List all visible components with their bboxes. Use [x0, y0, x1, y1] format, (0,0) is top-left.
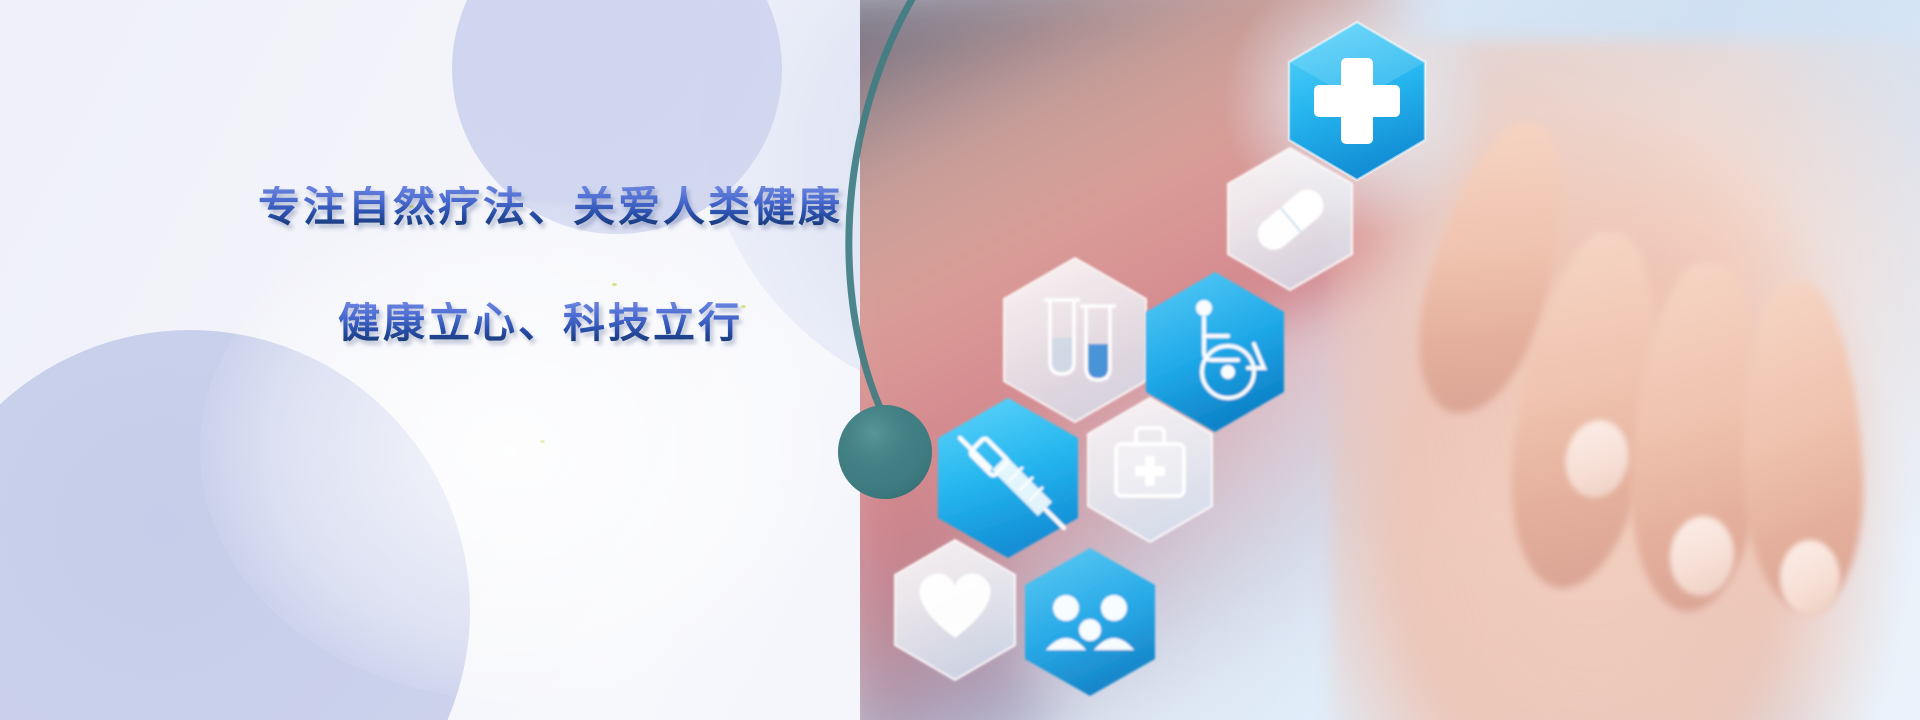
hexagon-people[interactable] — [1025, 548, 1155, 696]
headline-block: 专注自然疗法、关爱人类健康 健康立心、科技立行 — [258, 186, 898, 344]
headline-line-2: 健康立心、科技立行 — [338, 302, 898, 344]
hexagon-heart[interactable] — [895, 540, 1015, 680]
lavender-circle-bottom-left — [0, 330, 470, 720]
green-speck-icon — [540, 440, 545, 443]
headline-line-1: 专注自然疗法、关爱人类健康 — [258, 186, 898, 228]
hero-banner: 专注自然疗法、关爱人类健康 健康立心、科技立行 — [0, 0, 1920, 720]
hexagon-medical-kit[interactable] — [1088, 398, 1212, 542]
